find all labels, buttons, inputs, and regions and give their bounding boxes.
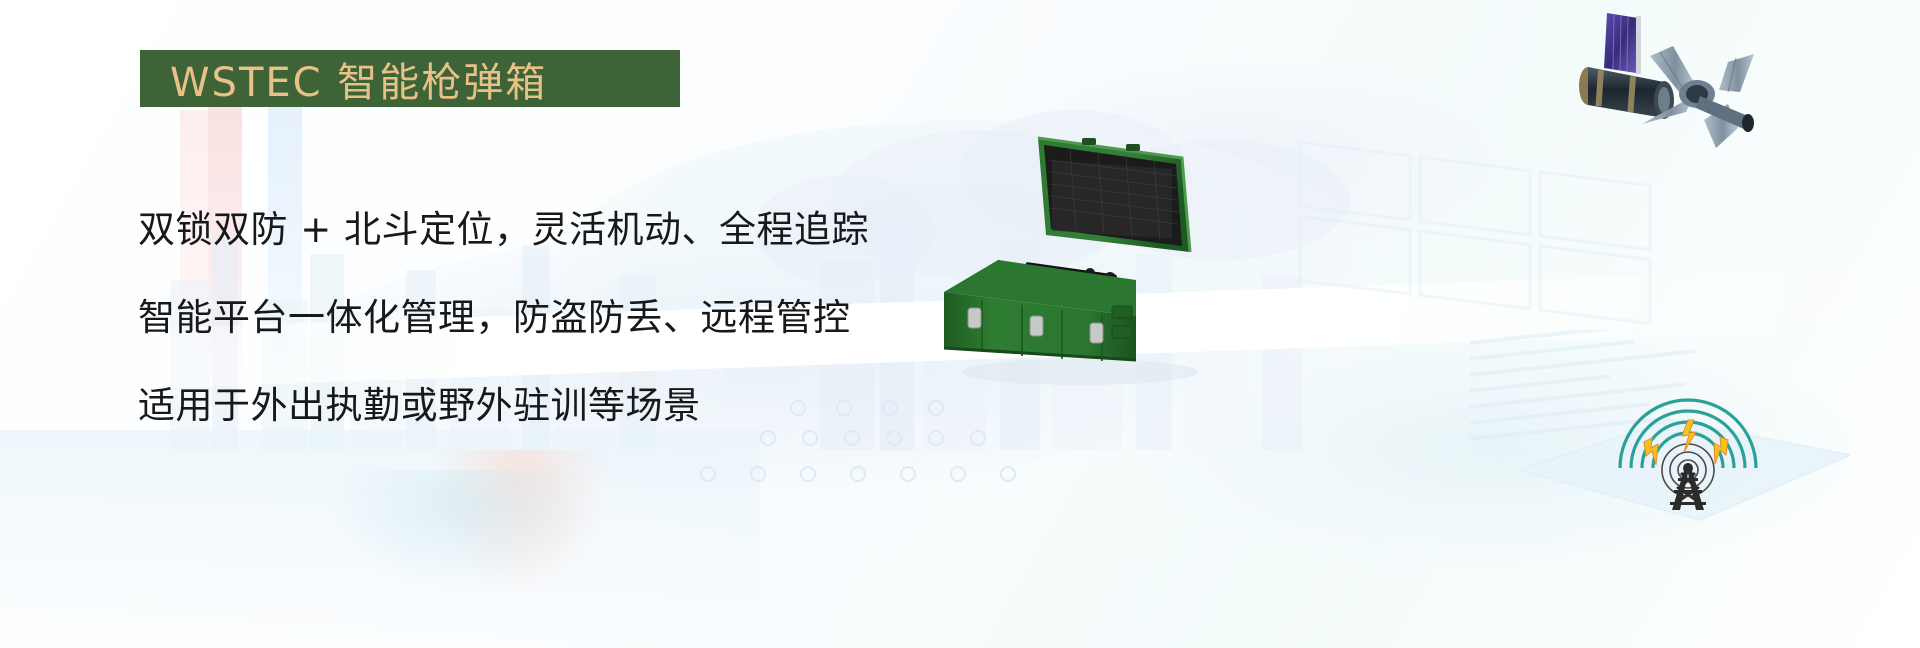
- backdrop-accent: [430, 450, 610, 600]
- feature-line-2: 智能平台一体化管理，防盗防丢、远程管控: [138, 274, 958, 362]
- backdrop-accent: [330, 470, 590, 590]
- signal-tower-icon: [1600, 360, 1775, 510]
- backdrop-tech-grid: [1280, 120, 1700, 380]
- product-banner: WSTEC 智能枪弹箱 双锁双防 + 北斗定位，灵活机动、全程追踪 智能平台一体…: [0, 0, 1920, 648]
- case-shadow: [962, 359, 1198, 385]
- feature-line-1: 双锁双防 + 北斗定位，灵活机动、全程追踪: [138, 186, 958, 274]
- backdrop-wash: [0, 430, 760, 648]
- case-lid: [1038, 138, 1190, 252]
- product-case-image: [930, 110, 1230, 390]
- satellite-solar-panel: [1604, 13, 1641, 74]
- satellite-icon: [1576, 0, 1786, 150]
- backdrop-dot-row: [700, 466, 1016, 482]
- tower-structure: [1670, 463, 1706, 510]
- satellite-body: [1579, 67, 1674, 119]
- feature-list: 双锁双防 + 北斗定位，灵活机动、全程追踪 智能平台一体化管理，防盗防丢、远程管…: [138, 186, 958, 450]
- lightning-bolt-icon: [1644, 420, 1728, 465]
- feature-line-3: 适用于外出执勤或野外驻训等场景: [138, 362, 958, 450]
- title-text: WSTEC 智能枪弹箱: [140, 50, 547, 108]
- title-plate: WSTEC 智能枪弹箱: [140, 50, 680, 107]
